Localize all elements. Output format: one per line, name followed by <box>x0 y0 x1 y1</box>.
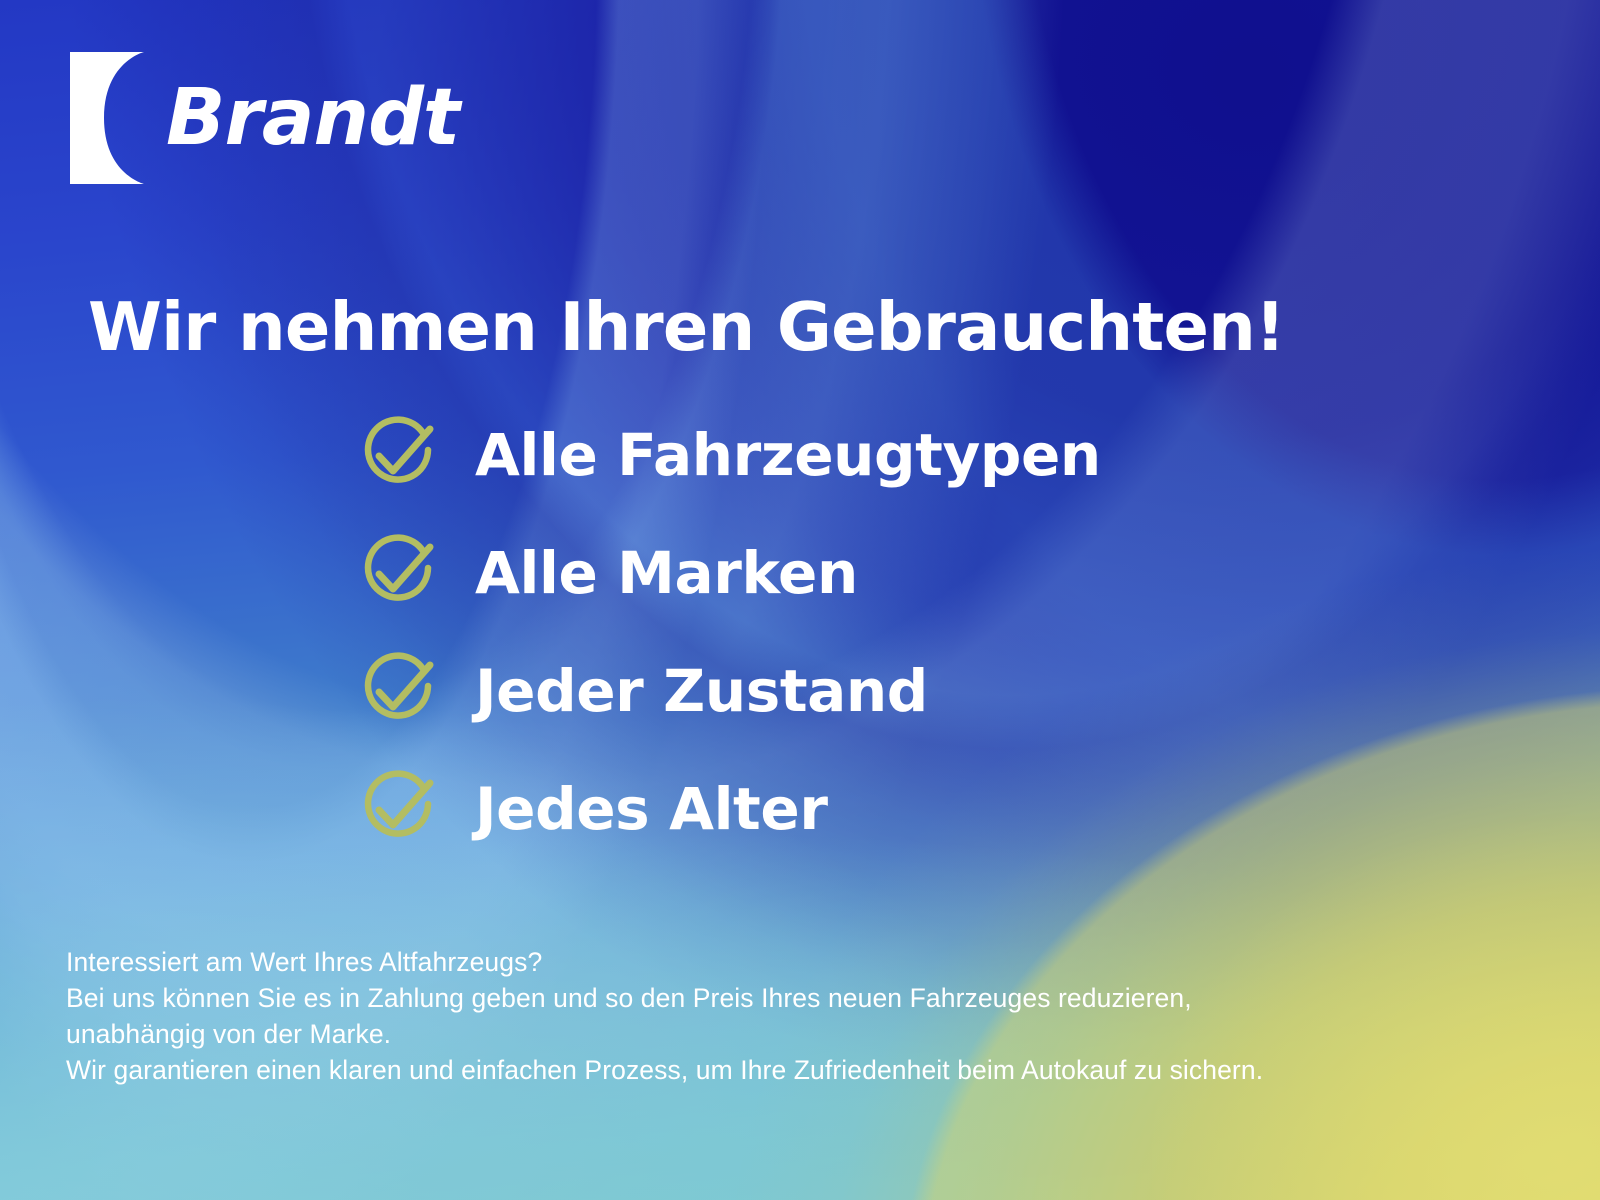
brand-logo[interactable]: Brandt <box>70 52 459 184</box>
footer-line-3: unabhängig von der Marke. <box>66 1016 1263 1052</box>
feature-label: Jedes Alter <box>475 780 828 838</box>
feature-label: Jeder Zustand <box>475 662 928 720</box>
feature-label: Alle Marken <box>475 544 858 602</box>
footer-line-1: Interessiert am Wert Ihres Altfahrzeugs? <box>66 944 1263 980</box>
footer-line-2: Bei uns können Sie es in Zahlung geben u… <box>66 980 1263 1016</box>
check-circle-icon <box>355 530 441 616</box>
feature-label: Alle Fahrzeugtypen <box>475 426 1101 484</box>
feature-item: Alle Marken <box>355 514 1101 632</box>
feature-item: Jeder Zustand <box>355 632 1101 750</box>
check-circle-icon <box>355 412 441 498</box>
feature-item: Jedes Alter <box>355 750 1101 868</box>
feature-list: Alle Fahrzeugtypen Alle Marken <box>355 396 1101 868</box>
check-circle-icon <box>355 766 441 852</box>
brand-name: Brandt <box>166 79 459 157</box>
feature-item: Alle Fahrzeugtypen <box>355 396 1101 514</box>
brandt-bracket-icon <box>70 52 148 184</box>
headline: Wir nehmen Ihren Gebrauchten! <box>88 292 1285 362</box>
check-circle-icon <box>355 648 441 734</box>
promo-banner: Brandt Wir nehmen Ihren Gebrauchten! All… <box>0 0 1600 1200</box>
footer-description: Interessiert am Wert Ihres Altfahrzeugs?… <box>66 944 1263 1088</box>
footer-line-4: Wir garantieren einen klaren und einfach… <box>66 1052 1263 1088</box>
